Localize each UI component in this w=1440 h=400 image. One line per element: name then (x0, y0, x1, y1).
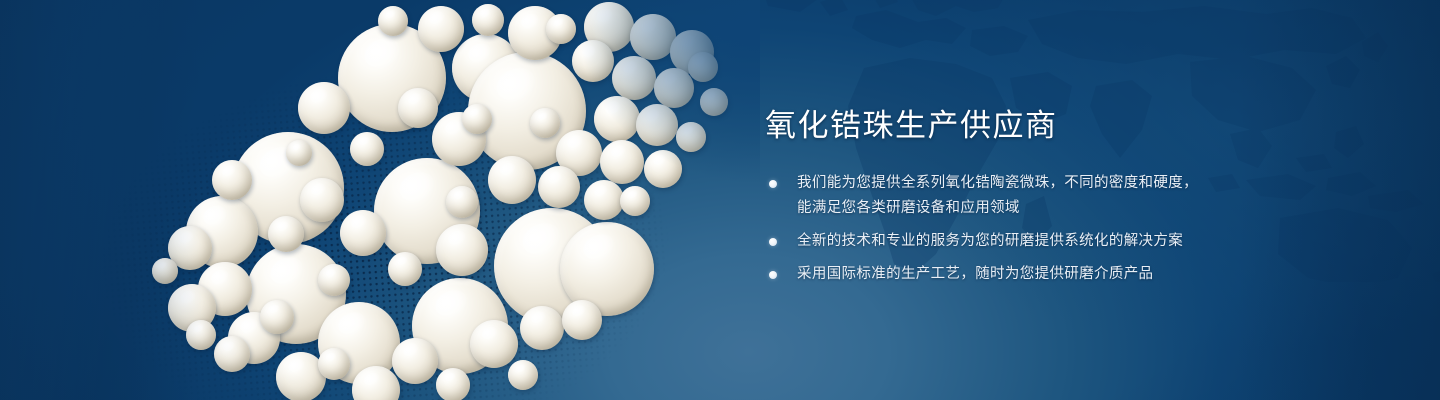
promo-banner: 氧化锆珠生产供应商 我们能为您提供全系列氧化锆陶瓷微珠，不同的密度和硬度， 能满… (0, 0, 1440, 400)
background-vignette (0, 0, 1440, 400)
